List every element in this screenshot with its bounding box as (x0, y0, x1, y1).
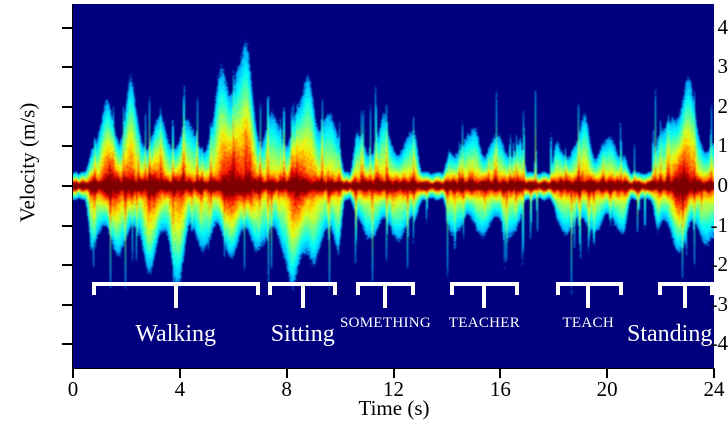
y-tick-label: 0 (674, 175, 728, 196)
y-tick (62, 304, 73, 306)
spectrogram-figure: WalkingSittingSOMETHINGTEACHERTEACHStand… (0, 0, 728, 430)
y-tick (62, 185, 73, 187)
y-tick (62, 106, 73, 108)
y-tick (62, 225, 73, 227)
y-axis-title: Velocity (m/s) (16, 43, 41, 283)
y-tick-label: 4 (674, 17, 728, 38)
y-tick (62, 27, 73, 29)
y-tick-label: 3 (674, 56, 728, 77)
spectrogram-heatmap (73, 4, 714, 368)
y-tick-label: -2 (674, 254, 728, 275)
activity-label-teach: TEACH (562, 316, 614, 331)
y-tick (62, 145, 73, 147)
x-tick-label: 0 (43, 379, 103, 400)
activity-label-sitting: Sitting (271, 322, 335, 346)
y-tick-label: 2 (674, 96, 728, 117)
y-tick-label: -3 (674, 294, 728, 315)
x-tick-label: 20 (577, 379, 637, 400)
activity-label-something: SOMETHING (340, 316, 431, 331)
x-tick-label: 4 (150, 379, 210, 400)
activity-label-teacher: TEACHER (449, 316, 520, 331)
y-tick (62, 66, 73, 68)
plot-area: WalkingSittingSOMETHINGTEACHERTEACHStand… (73, 4, 714, 368)
y-tick-label: -4 (674, 333, 728, 354)
y-tick (62, 264, 73, 266)
y-tick-label: -1 (674, 215, 728, 236)
x-axis-title: Time (s) (294, 396, 494, 421)
x-tick-label: 24 (684, 379, 728, 400)
y-tick-label: 1 (674, 135, 728, 156)
activity-label-walking: Walking (135, 322, 216, 346)
y-tick (62, 343, 73, 345)
